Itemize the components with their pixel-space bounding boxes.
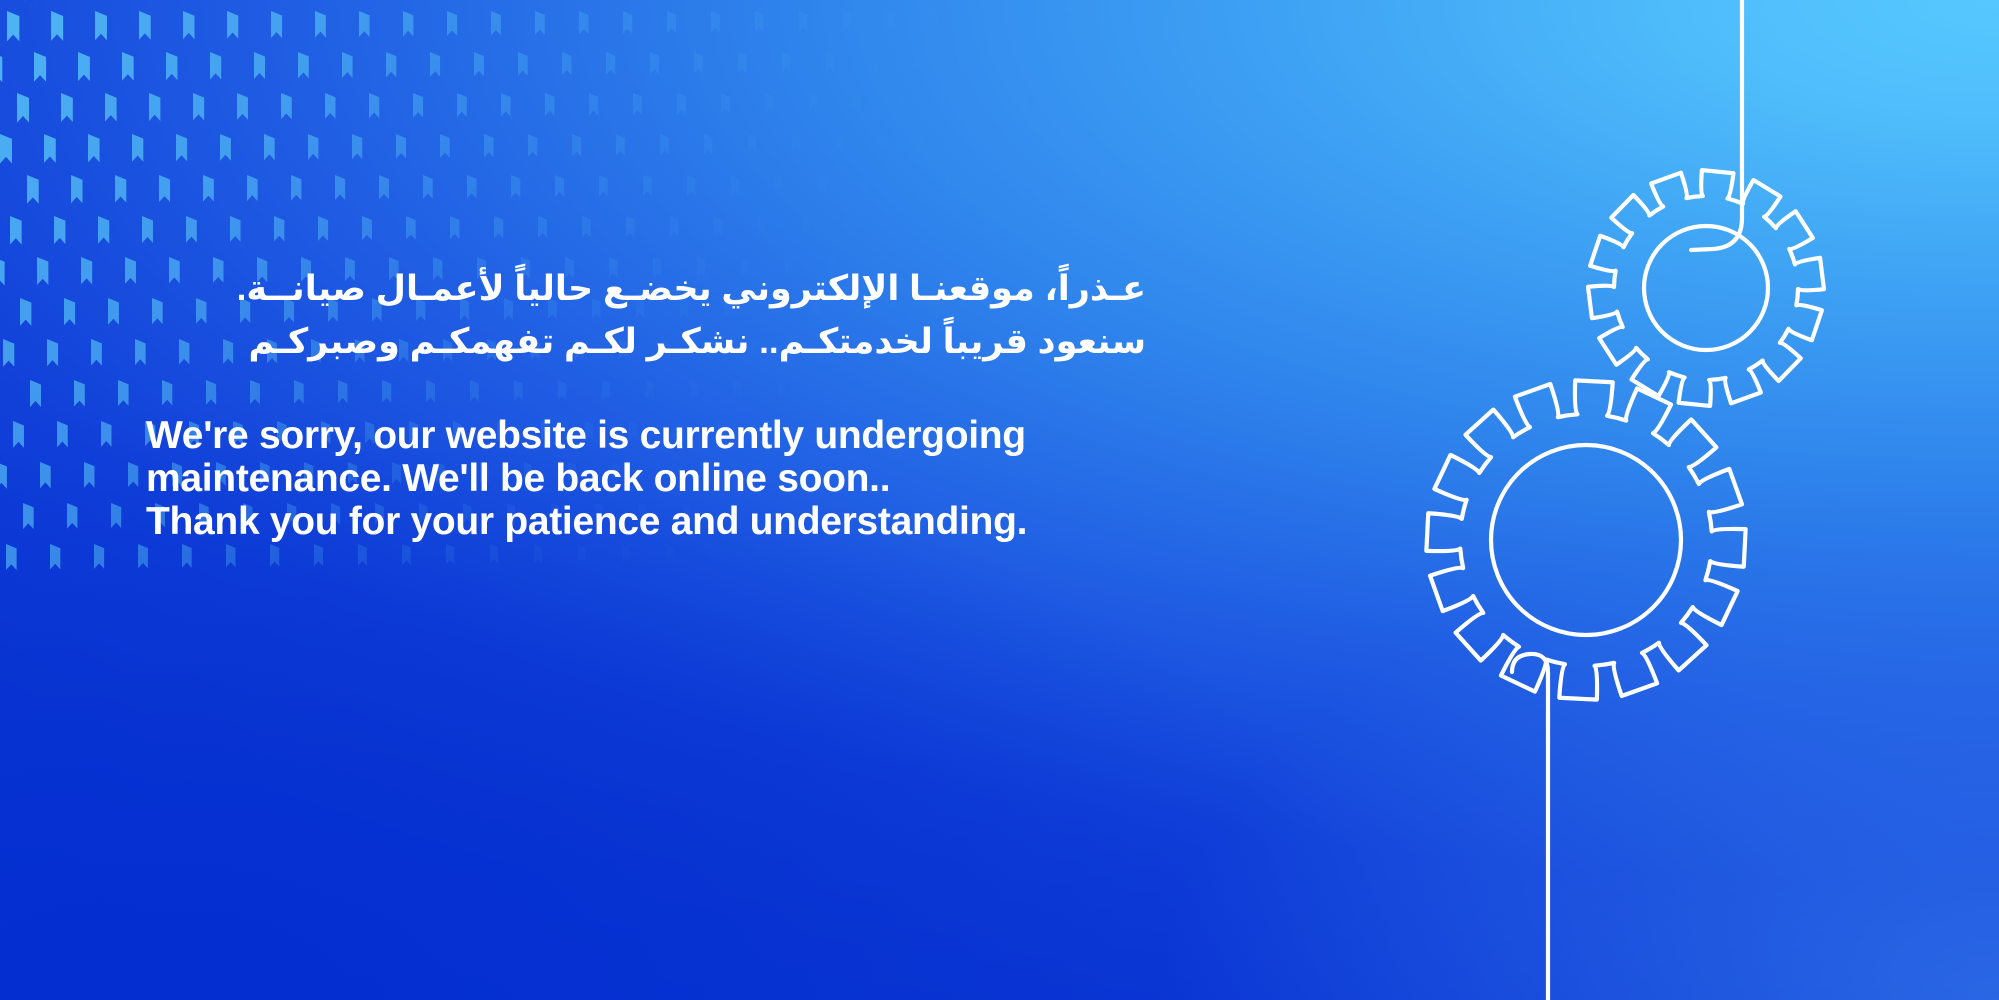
arabic-line-1: عـذراً، موقعنـا الإلكتروني يخضـع حالياً … <box>146 262 1146 315</box>
maintenance-message: عـذراً، موقعنـا الإلكتروني يخضـع حالياً … <box>146 262 1146 543</box>
english-line-2: maintenance. We'll be back online soon.. <box>146 457 1146 500</box>
english-line-1: We're sorry, our website is currently un… <box>146 414 1146 457</box>
english-line-3: Thank you for your patience and understa… <box>146 500 1146 543</box>
arabic-line-2: سنعود قريباً لخدمتكـم.. نشكـر لكـم تفهمك… <box>146 315 1146 368</box>
arabic-message: عـذراً، موقعنـا الإلكتروني يخضـع حالياً … <box>146 262 1146 368</box>
english-message: We're sorry, our website is currently un… <box>146 414 1146 543</box>
maintenance-page: عـذراً، موقعنـا الإلكتروني يخضـع حالياً … <box>0 0 1999 1000</box>
